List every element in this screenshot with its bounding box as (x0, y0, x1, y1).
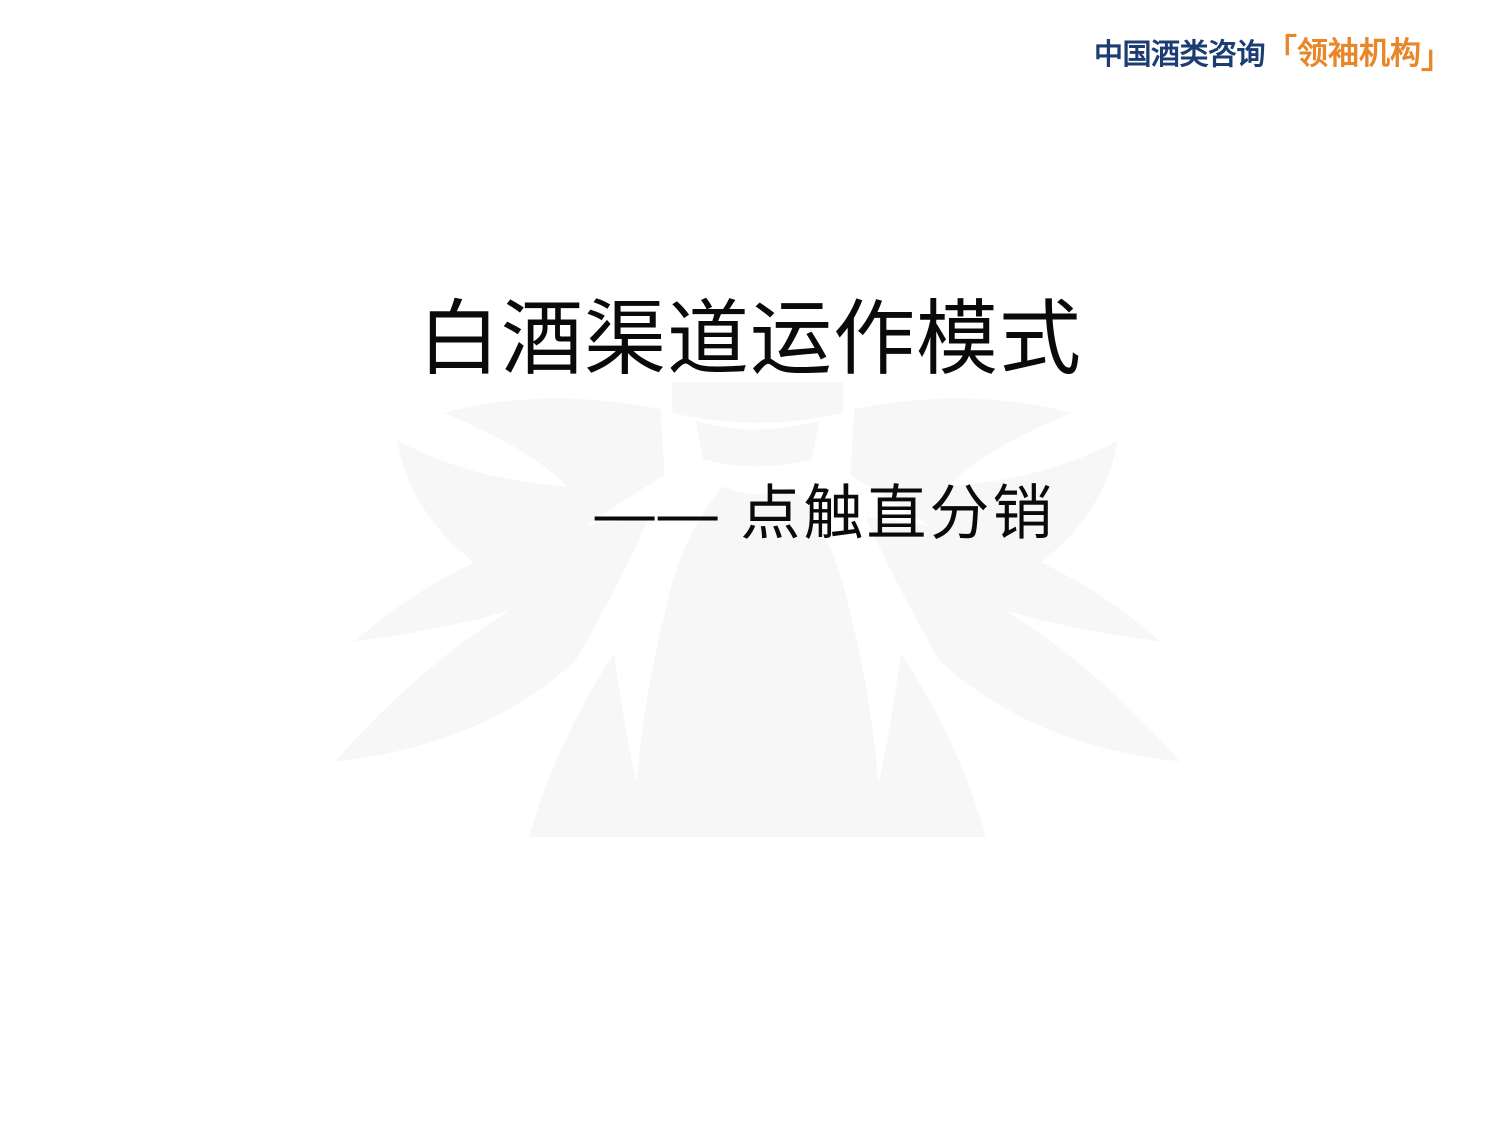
slide-title: 白酒渠道运作模式 (0, 296, 1500, 385)
brand-primary-text: 中国酒类咨询 (1094, 41, 1265, 70)
slide-footer: 远景(中国)营销管理咨询公司 VISION (CHINA) MARKETING … (0, 1025, 1500, 1125)
brand-accent-group: 「 领袖机构 」 (1266, 38, 1452, 69)
headline-block: 白酒渠道运作模式 —— 点触直分销 (0, 296, 1500, 547)
bracket-close-icon: 」 (1421, 42, 1452, 73)
brand-accent-text: 领袖机构 (1297, 38, 1421, 69)
brand-logo: 中国酒类咨询 「 领袖机构 」 (1094, 38, 1452, 70)
slide-subtitle: —— 点触直分销 (0, 385, 1500, 547)
bracket-open-icon: 「 (1266, 35, 1297, 66)
presentation-slide: 中国酒类咨询 「 领袖机构 」 白酒渠道运作模式 —— 点触直分销 (0, 0, 1500, 1125)
